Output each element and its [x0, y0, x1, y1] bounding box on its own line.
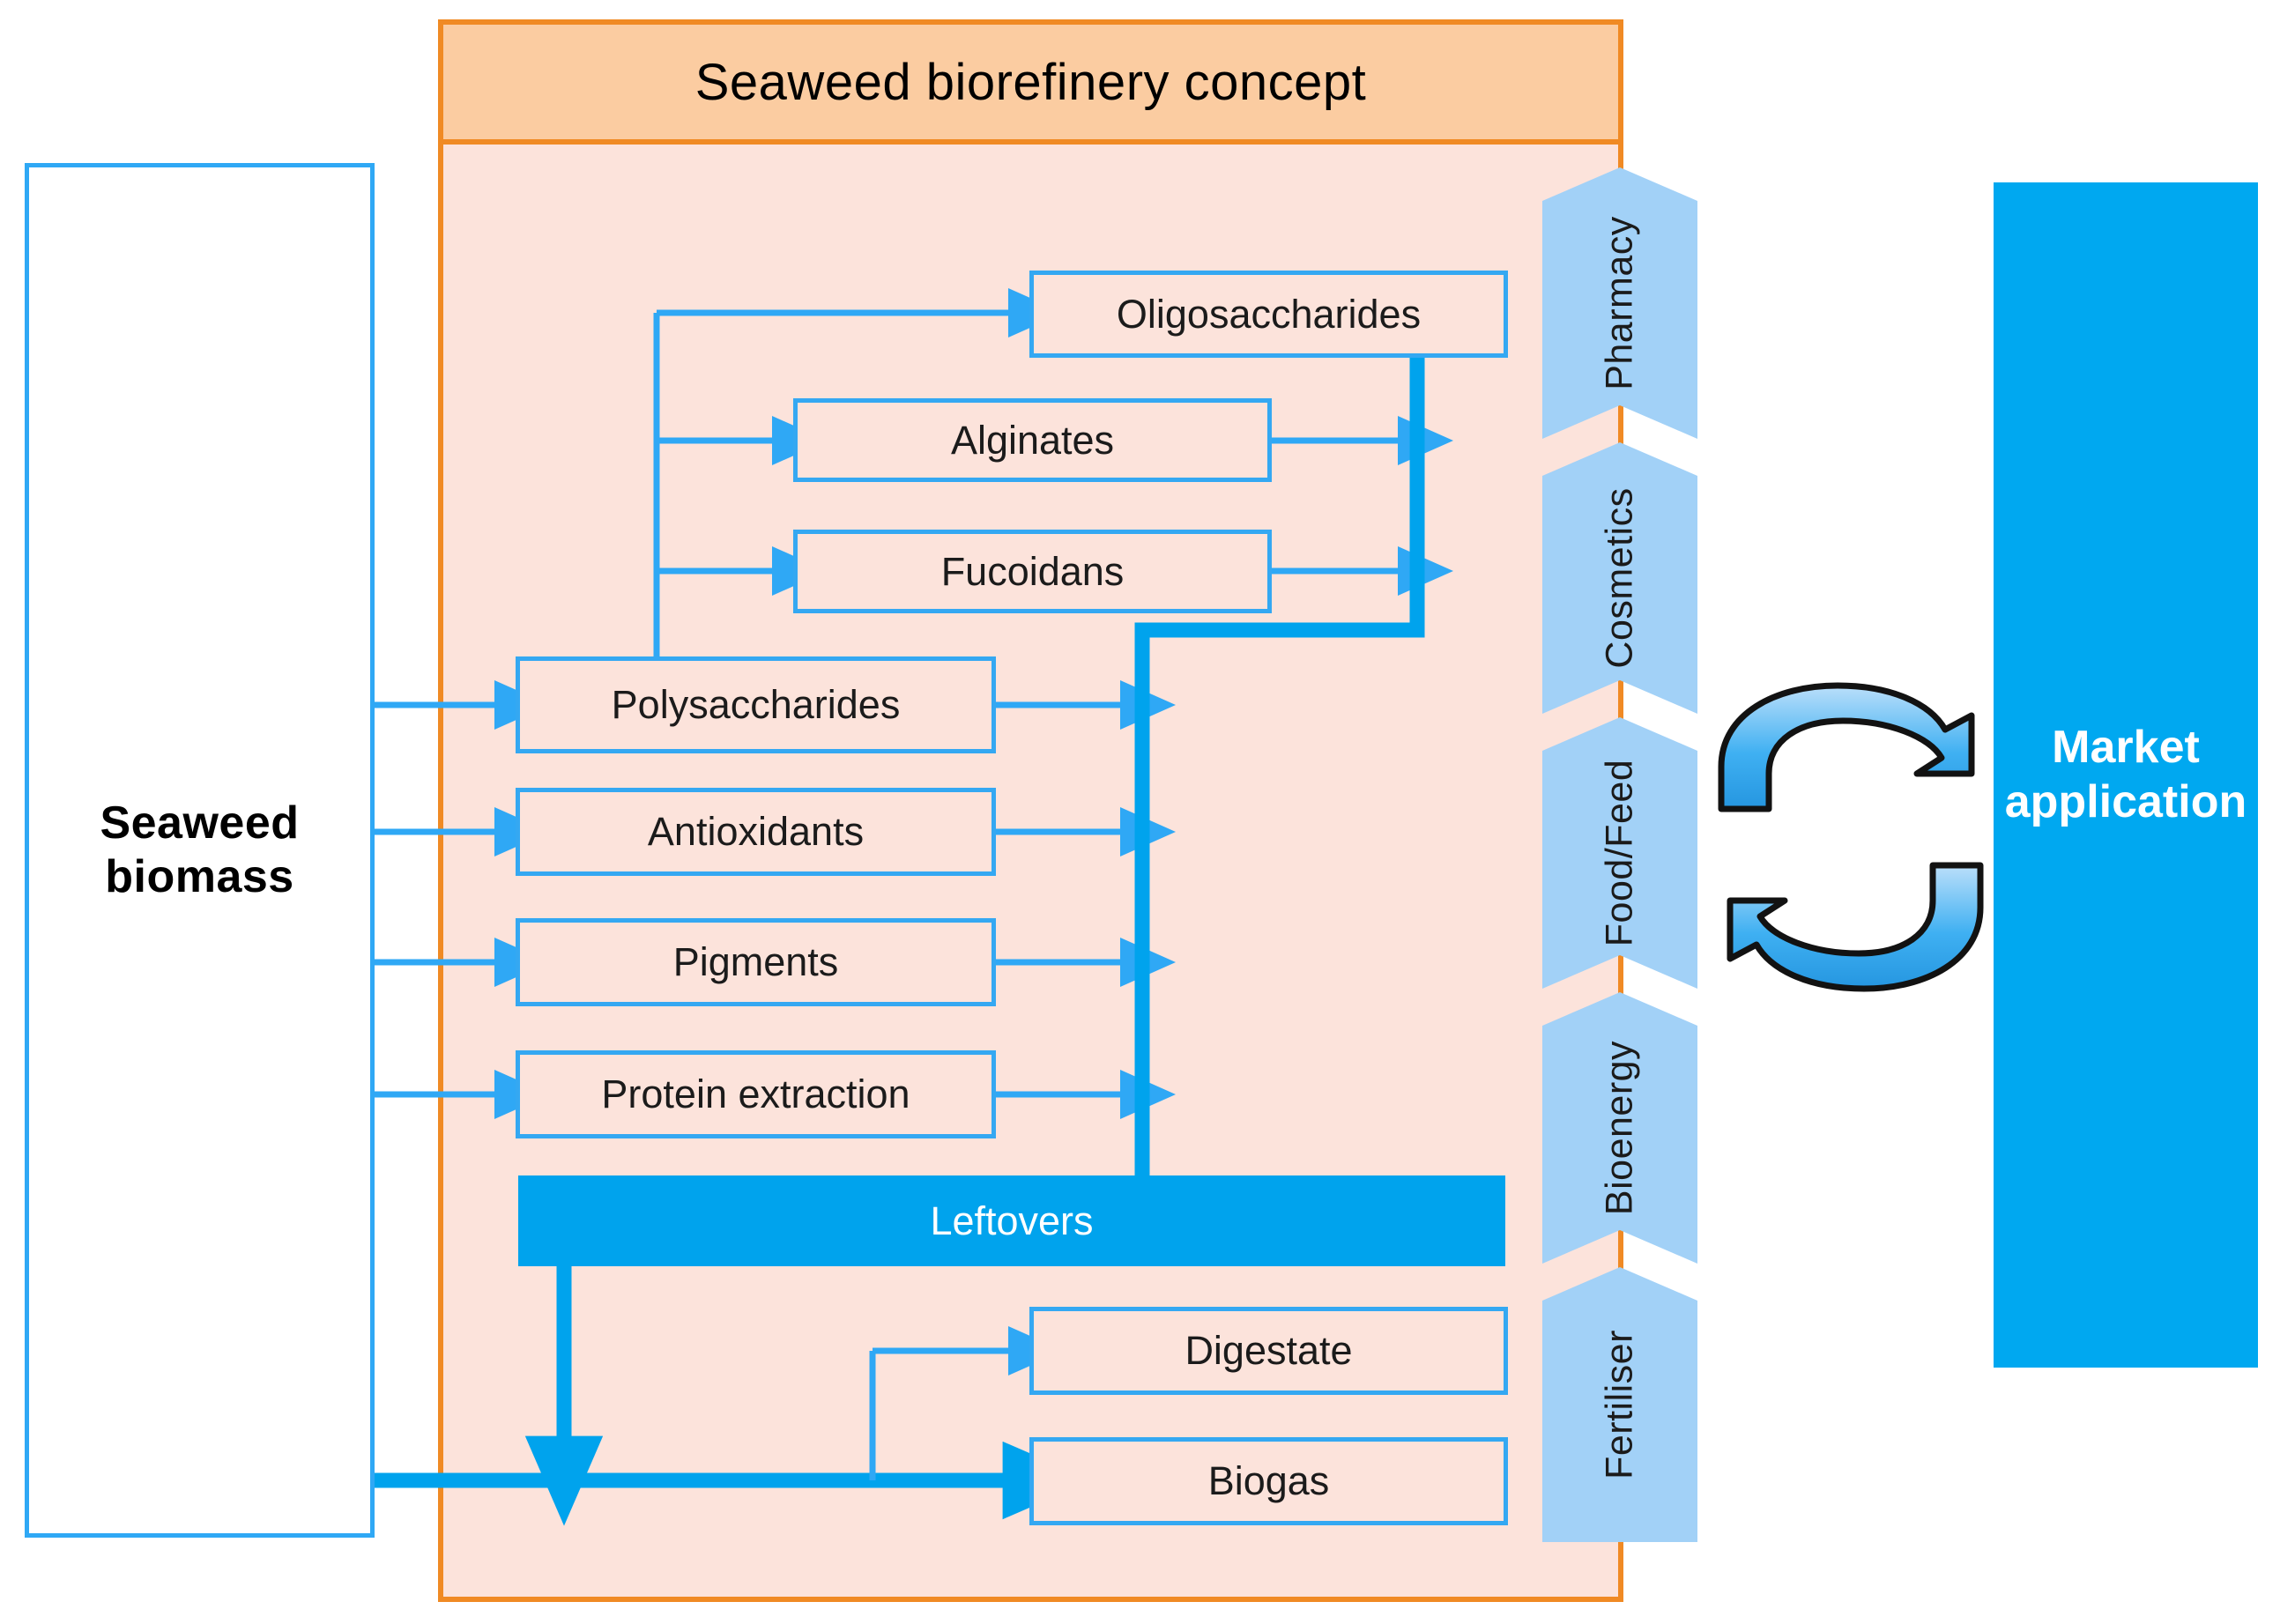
process-box-label: Pigments: [673, 941, 839, 983]
process-box-biogas[interactable]: Biogas: [1029, 1437, 1508, 1525]
market-application-box: Market application: [1994, 182, 2258, 1368]
chevron-food-feed[interactable]: Food/Feed: [1542, 717, 1697, 989]
process-box-label: Alginates: [951, 419, 1114, 461]
process-box-label: Antioxidants: [648, 811, 864, 852]
chevron-label: Fertiliser: [1599, 1330, 1642, 1479]
process-box-polysaccharides[interactable]: Polysaccharides: [516, 656, 996, 753]
seaweed-biomass-label: Seaweed biomass: [29, 797, 370, 905]
chevron-fertiliser[interactable]: Fertiliser: [1542, 1267, 1697, 1542]
process-box-oligosaccharides[interactable]: Oligosaccharides: [1029, 271, 1508, 358]
market-application-label: Market application: [1994, 721, 2258, 829]
process-box-fucoidans[interactable]: Fucoidans: [793, 530, 1272, 613]
chevron-label: Bioenergy: [1599, 1041, 1642, 1215]
chevron-pharmacy[interactable]: Pharmacy: [1542, 167, 1697, 439]
chevron-bioenergy[interactable]: Bioenergy: [1542, 992, 1697, 1264]
process-box-label: Oligosaccharides: [1117, 293, 1421, 335]
process-box-label: Digestate: [1185, 1330, 1352, 1371]
refinery-title-bar: Seaweed biorefinery concept: [438, 19, 1623, 145]
process-box-pigments[interactable]: Pigments: [516, 918, 996, 1006]
cycle-arrows-icon: [1721, 686, 1980, 989]
leftovers-label: Leftovers: [930, 1198, 1093, 1244]
process-box-antioxidants[interactable]: Antioxidants: [516, 788, 996, 876]
process-box-alginates[interactable]: Alginates: [793, 398, 1272, 482]
page-title: Seaweed biorefinery concept: [695, 53, 1367, 112]
chevron-label: Food/Feed: [1599, 760, 1642, 946]
process-box-digestate[interactable]: Digestate: [1029, 1307, 1508, 1395]
process-box-label: Polysaccharides: [612, 684, 901, 725]
process-box-label: Fucoidans: [941, 551, 1125, 592]
diagram-canvas: Seaweed biomass Seaweed biorefinery conc…: [0, 0, 2280, 1624]
chevron-label: Pharmacy: [1599, 216, 1642, 390]
process-box-protein-extraction[interactable]: Protein extraction: [516, 1050, 996, 1138]
application-chevron-column: Pharmacy Cosmetics Food/Feed Bioenergy F…: [1542, 167, 1697, 1542]
seaweed-biomass-box: Seaweed biomass: [25, 163, 375, 1538]
process-box-label: Protein extraction: [601, 1073, 910, 1115]
leftovers-bar[interactable]: Leftovers: [518, 1175, 1505, 1266]
chevron-label: Cosmetics: [1599, 487, 1642, 668]
chevron-cosmetics[interactable]: Cosmetics: [1542, 442, 1697, 714]
process-box-label: Biogas: [1208, 1460, 1330, 1502]
